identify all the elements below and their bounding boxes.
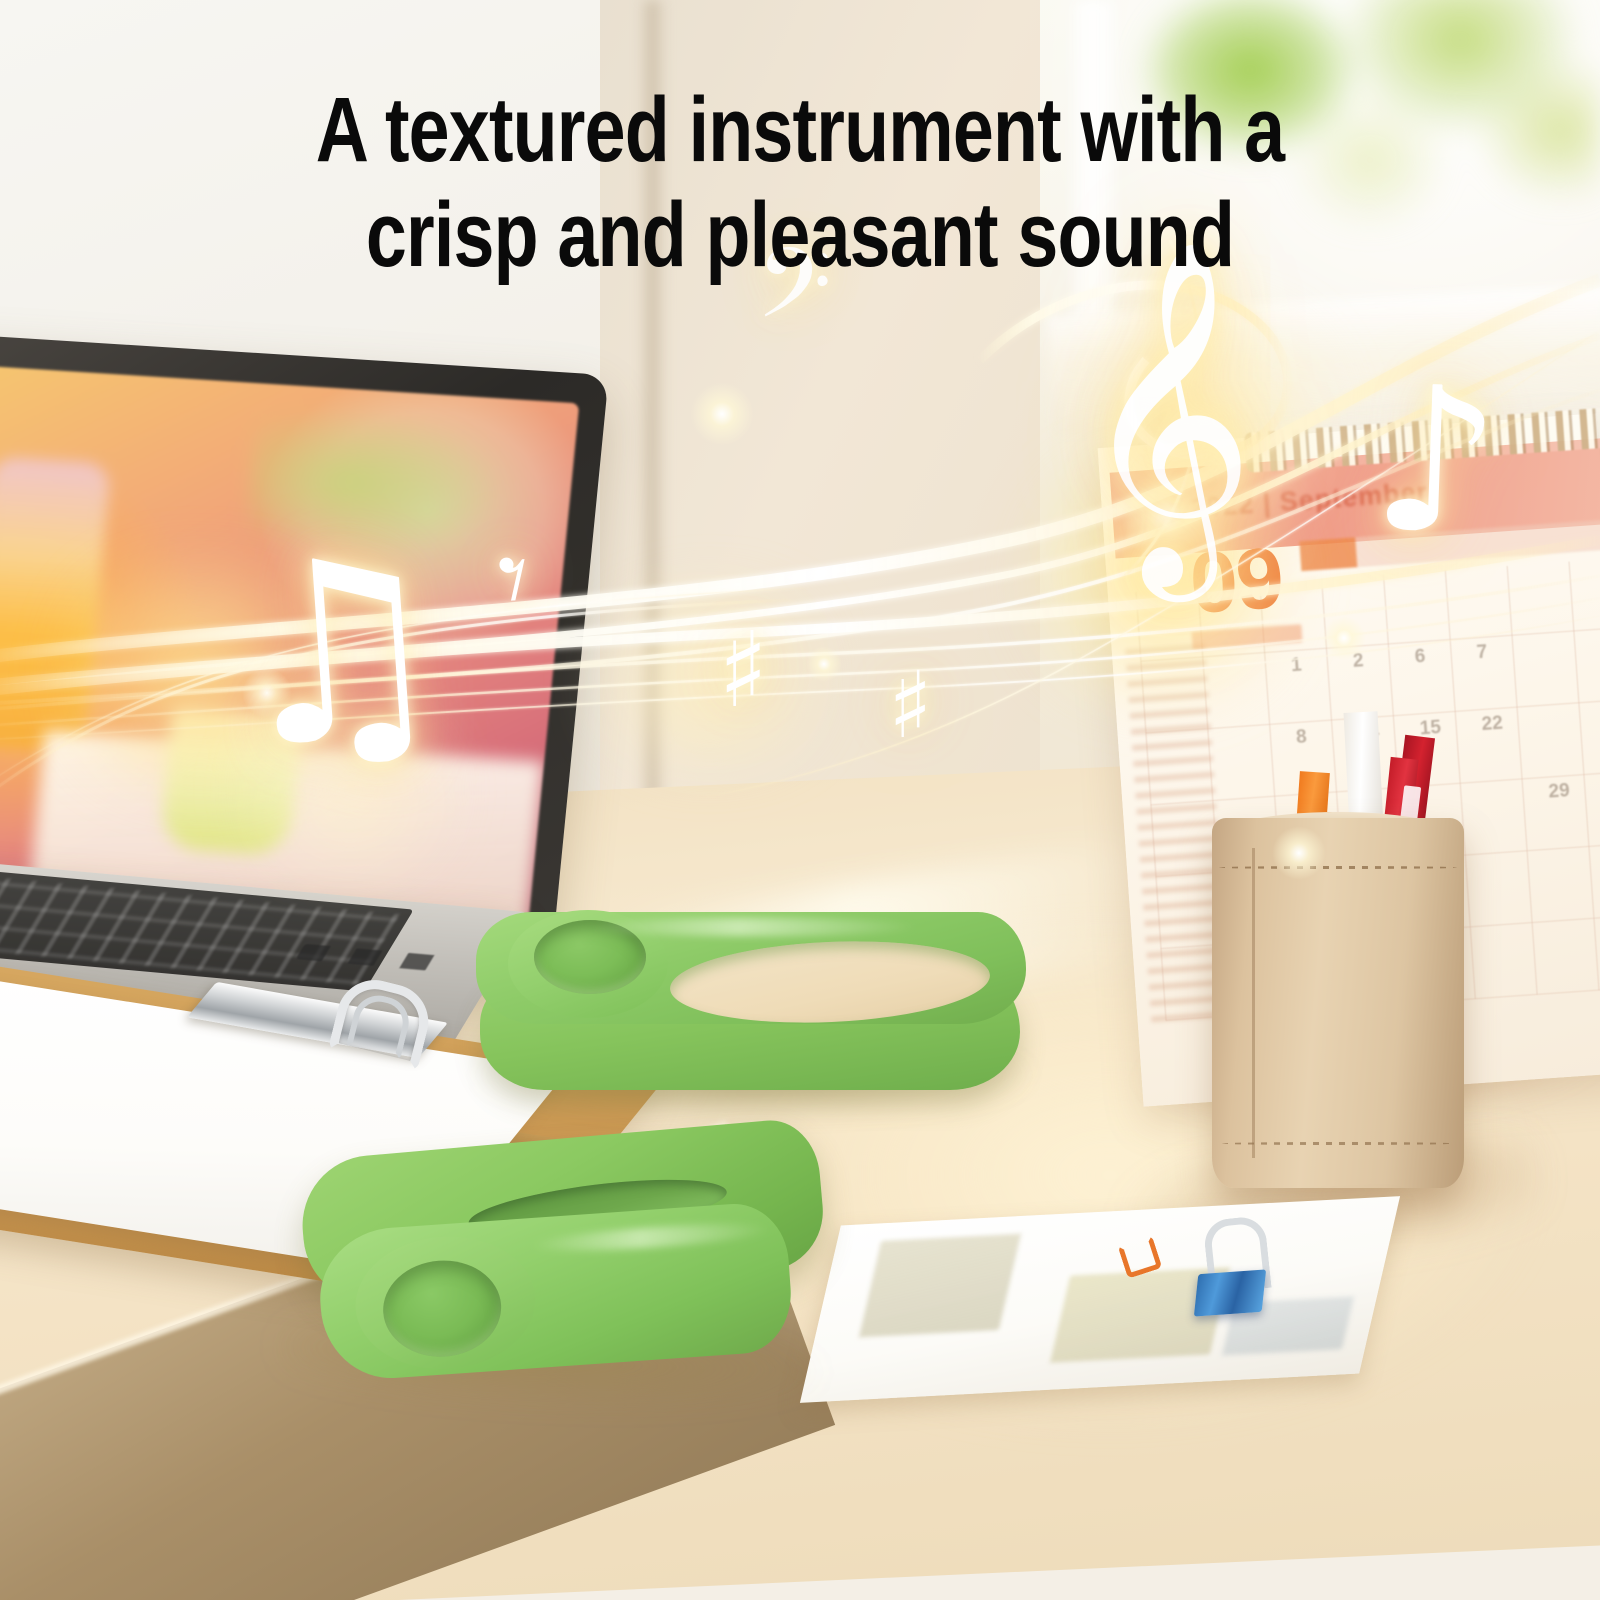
pen-cup-body <box>1212 818 1464 1188</box>
screen-content-bottle <box>0 456 111 752</box>
castanet-open-highlight <box>590 918 920 936</box>
product-marketing-image: 2022 | September 09 1267814152229 <box>0 0 1600 1600</box>
calendar-date: 29 <box>1548 780 1571 803</box>
laptop-screen <box>0 363 579 931</box>
binder-clip <box>1194 1269 1266 1316</box>
calendar-date: 7 <box>1476 642 1488 665</box>
headline-text: A textured instrument with a crisp and p… <box>160 78 1440 288</box>
calendar-date: 8 <box>1295 726 1307 749</box>
pen-cup-seam <box>1252 848 1255 1158</box>
calendar-date: 1 <box>1290 655 1302 678</box>
calendar-date: 22 <box>1481 713 1504 736</box>
screen-content-glass <box>159 708 302 855</box>
castanet-open <box>470 890 1030 1090</box>
calendar-date: 6 <box>1414 646 1426 669</box>
calendar-date: 2 <box>1352 650 1364 673</box>
castanet-closed <box>293 1111 836 1403</box>
pen-cup-stitching-bottom <box>1222 1142 1454 1145</box>
screen-content-foliage <box>243 401 507 566</box>
brochure-photo-a <box>859 1234 1021 1338</box>
